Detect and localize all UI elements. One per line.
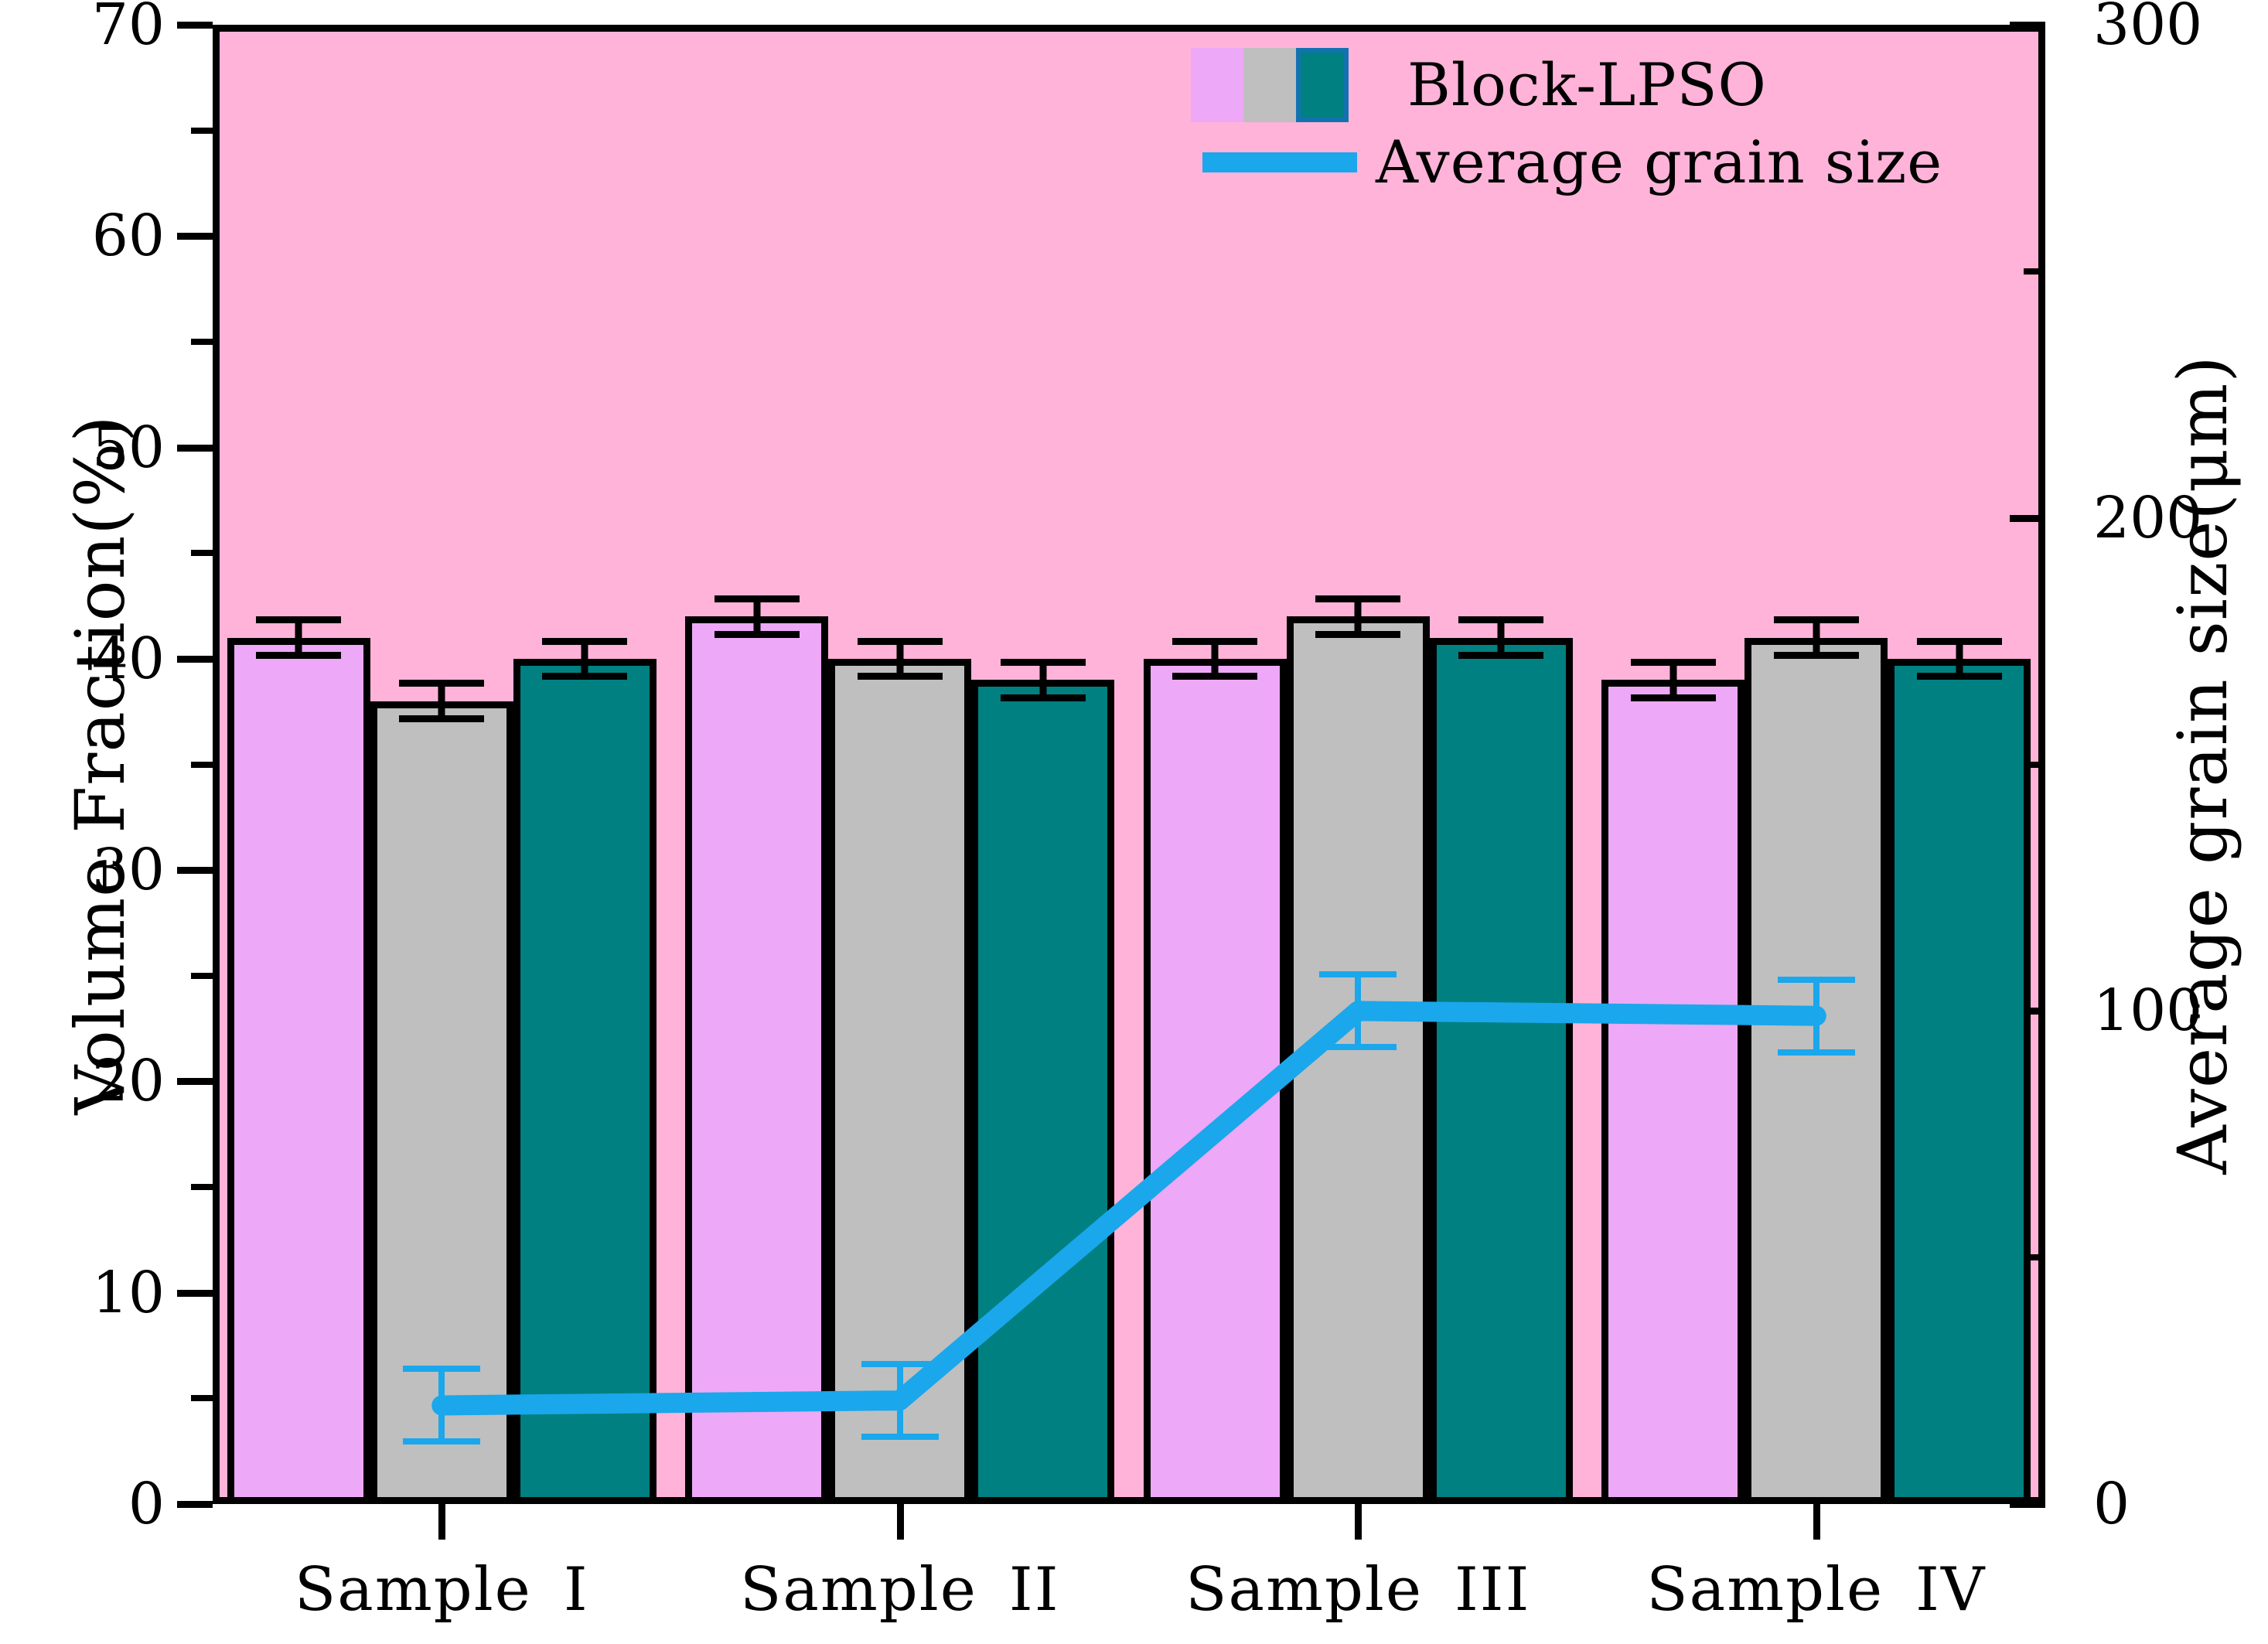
axis-tick [191, 339, 213, 345]
x-axis-tick-label-2: Sample II [740, 1560, 1060, 1620]
axis-tick [177, 445, 213, 452]
axis-tick [177, 867, 213, 874]
legend-swatch-violet [1191, 48, 1243, 122]
y-axis-left-tick-label: 20 [92, 1052, 165, 1110]
axis-tick [177, 1290, 213, 1297]
axis-tick [191, 762, 213, 768]
legend-swatch-gray [1243, 48, 1296, 122]
chart-root: Volume Fraction(%) Average grain size(μm… [0, 0, 2268, 1644]
axis-tick [191, 550, 213, 556]
chart-legend: Block-LPSO Average grain size [213, 25, 2045, 1504]
y-axis-right-tick-label: 200 [2093, 489, 2202, 547]
axis-tick [177, 22, 213, 29]
axis-tick [177, 1501, 213, 1508]
axis-tick [191, 128, 213, 134]
y-axis-right-tick-label: 0 [2093, 1475, 2130, 1533]
legend-item-block-lpso[interactable]: Block-LPSO [1191, 48, 1767, 122]
legend-swatch-teal [1296, 48, 1349, 122]
axis-tick [177, 233, 213, 240]
y-axis-left-tick-label: 40 [92, 630, 165, 687]
plot-area: Block-LPSO Average grain size [213, 25, 2045, 1504]
x-axis-tick-label-3: Sample III [1185, 1560, 1530, 1620]
y-axis-right-title: Average grain size(μm) [2169, 355, 2237, 1174]
y-axis-left-tick-label: 0 [128, 1475, 165, 1533]
x-axis-tick-label-4: Sample IV [1646, 1560, 1986, 1620]
y-axis-left-title: Volume Fraction(%) [67, 414, 135, 1114]
y-axis-right-tick-label: 100 [2093, 982, 2202, 1039]
axis-tick [191, 1184, 213, 1190]
legend-label-block-lpso: Block-LPSO [1407, 56, 1767, 114]
axis-tick [177, 656, 213, 663]
axis-tick [897, 1504, 904, 1540]
axis-tick [438, 1504, 445, 1540]
y-axis-left-tick-label: 70 [92, 0, 165, 53]
legend-item-average-grain-size[interactable]: Average grain size [1202, 133, 1942, 192]
y-axis-right-tick-label: 300 [2093, 0, 2202, 53]
legend-label-average-grain-size: Average grain size [1376, 133, 1942, 192]
y-axis-left-tick-label: 30 [92, 841, 165, 899]
axis-tick [177, 1078, 213, 1085]
y-axis-left-tick-label: 10 [92, 1264, 165, 1322]
legend-swatch-group [1191, 48, 1349, 122]
y-axis-left-tick-label: 60 [92, 207, 165, 264]
axis-tick [1813, 1504, 1820, 1540]
axis-tick [191, 973, 213, 979]
legend-line-swatch [1202, 152, 1357, 172]
axis-tick [191, 1395, 213, 1401]
axis-tick [1355, 1504, 1362, 1540]
x-axis-tick-label-1: Sample I [295, 1560, 589, 1620]
y-axis-left-tick-label: 50 [92, 419, 165, 476]
